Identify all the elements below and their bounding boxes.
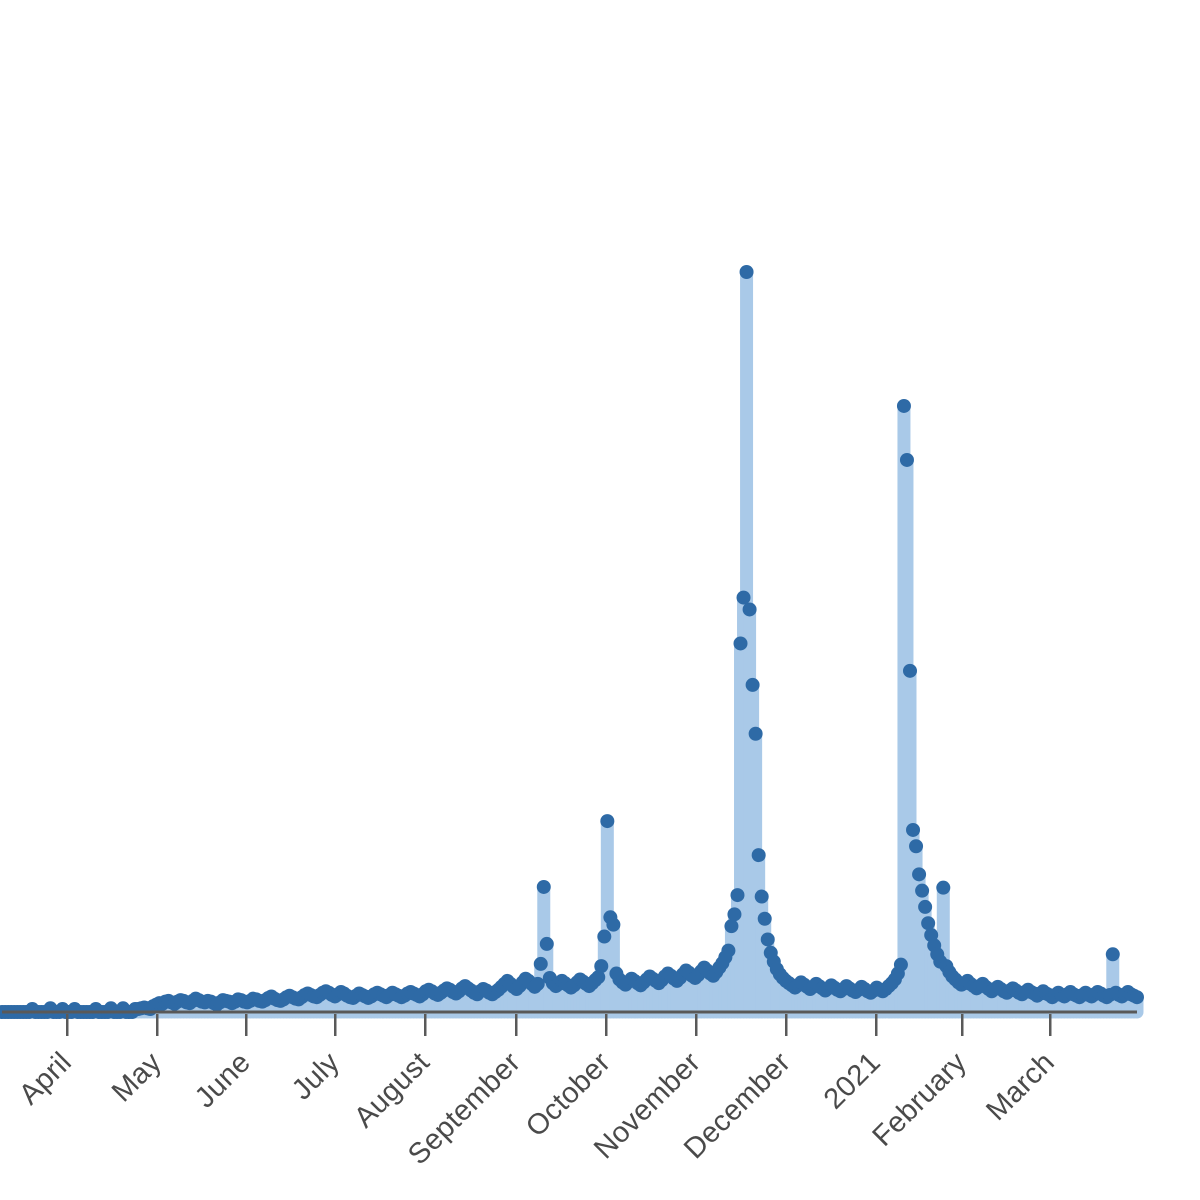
series-data-point[interactable] (752, 848, 766, 862)
series-data-point[interactable] (600, 814, 614, 828)
series-data-point[interactable] (755, 890, 769, 904)
series-data-point[interactable] (915, 884, 929, 898)
series-data-point[interactable] (730, 888, 744, 902)
series-data-point[interactable] (531, 977, 545, 991)
chart-container: AprilMayJuneJulyAugustSeptemberOctoberNo… (0, 0, 1200, 1200)
series-data-point[interactable] (734, 636, 748, 650)
series-data-point[interactable] (537, 880, 551, 894)
series-data-point[interactable] (912, 867, 926, 881)
series-data-point[interactable] (1106, 947, 1120, 961)
series-data-point[interactable] (897, 399, 911, 413)
series-data-point[interactable] (606, 918, 620, 932)
series-data-point[interactable] (743, 602, 757, 616)
series-data-point[interactable] (534, 957, 548, 971)
series-data-point[interactable] (921, 916, 935, 930)
series-data-point[interactable] (909, 839, 923, 853)
series-data-point[interactable] (737, 591, 751, 605)
chart-background (0, 0, 1200, 1200)
series-data-point[interactable] (740, 265, 754, 279)
series-data-point[interactable] (746, 678, 760, 692)
series-data-point[interactable] (540, 937, 554, 951)
series-data-point[interactable] (594, 959, 608, 973)
series-data-point[interactable] (918, 900, 932, 914)
series-data-point[interactable] (727, 907, 741, 921)
series-data-point[interactable] (894, 958, 908, 972)
series-data-point[interactable] (906, 823, 920, 837)
series-data-point[interactable] (749, 727, 763, 741)
series-data-point[interactable] (724, 919, 738, 933)
series-data-point[interactable] (761, 932, 775, 946)
series-data-point[interactable] (721, 944, 735, 958)
series-data-point[interactable] (936, 881, 950, 895)
series-data-point[interactable] (597, 930, 611, 944)
series-data-point[interactable] (758, 912, 772, 926)
series-data-point[interactable] (903, 664, 917, 678)
series-data-point[interactable] (900, 453, 914, 467)
series-data-point[interactable] (1130, 990, 1144, 1004)
timeseries-area-chart: AprilMayJuneJulyAugustSeptemberOctoberNo… (0, 0, 1200, 1200)
